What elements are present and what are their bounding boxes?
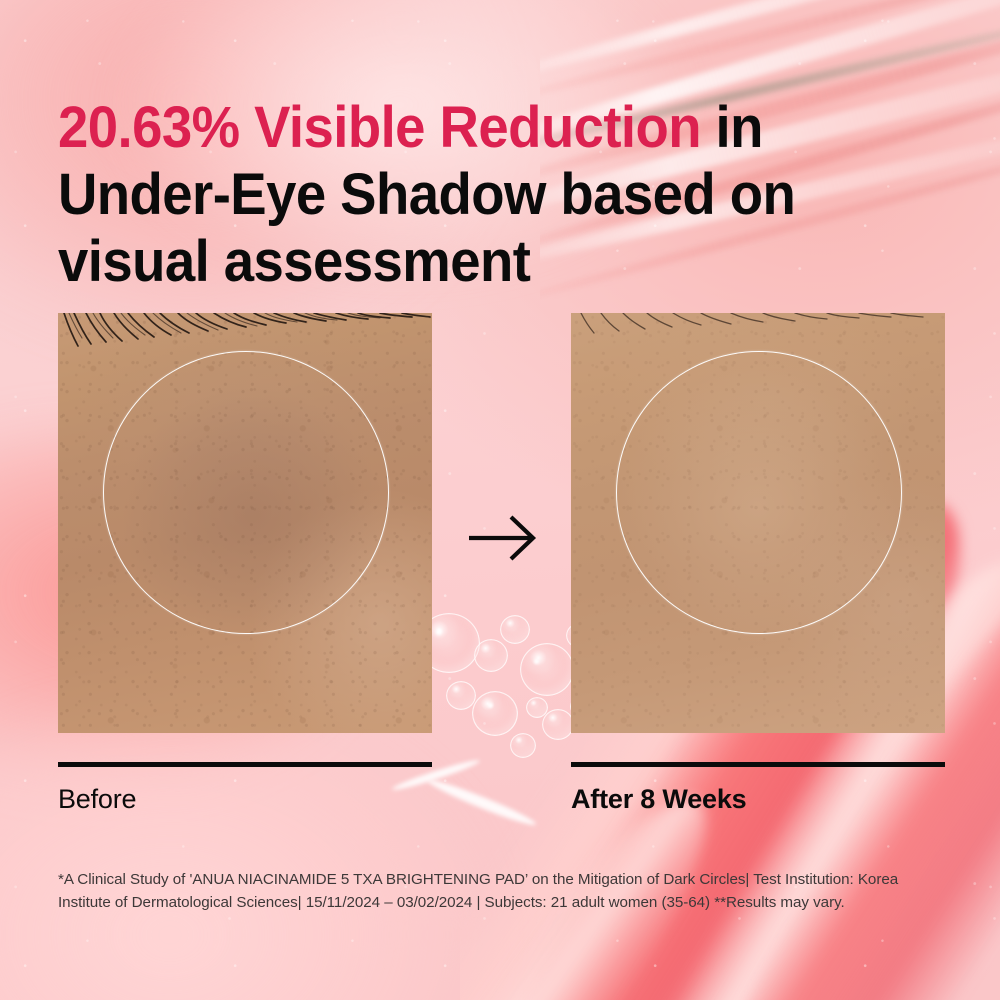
after-highlight-circle: [616, 351, 902, 634]
after-divider: [571, 762, 945, 767]
footnote-line-3: (35-64) **Results may vary.: [661, 894, 844, 911]
before-photo: [58, 313, 432, 733]
before-divider: [58, 762, 432, 767]
headline-line3: visual assessment: [58, 229, 530, 294]
after-photo: [571, 313, 945, 733]
headline-line2: Under-Eye Shadow based on: [58, 162, 795, 227]
arrow-right-icon: [467, 512, 539, 564]
before-label: Before: [58, 784, 136, 815]
after-label: After 8 Weeks: [571, 784, 746, 815]
promo-graphic: 20.63% Visible Reduction in Under-Eye Sh…: [0, 0, 1000, 1000]
footnote-line-1: *A Clinical Study of 'ANUA NIACINAMIDE 5…: [58, 871, 781, 888]
headline-accent: 20.63% Visible Reduction: [58, 95, 701, 160]
page-title: 20.63% Visible Reduction in Under-Eye Sh…: [58, 94, 895, 296]
footnote: *A Clinical Study of 'ANUA NIACINAMIDE 5…: [58, 868, 916, 914]
before-highlight-circle: [103, 351, 389, 634]
headline-rest-line1: in: [701, 95, 763, 160]
